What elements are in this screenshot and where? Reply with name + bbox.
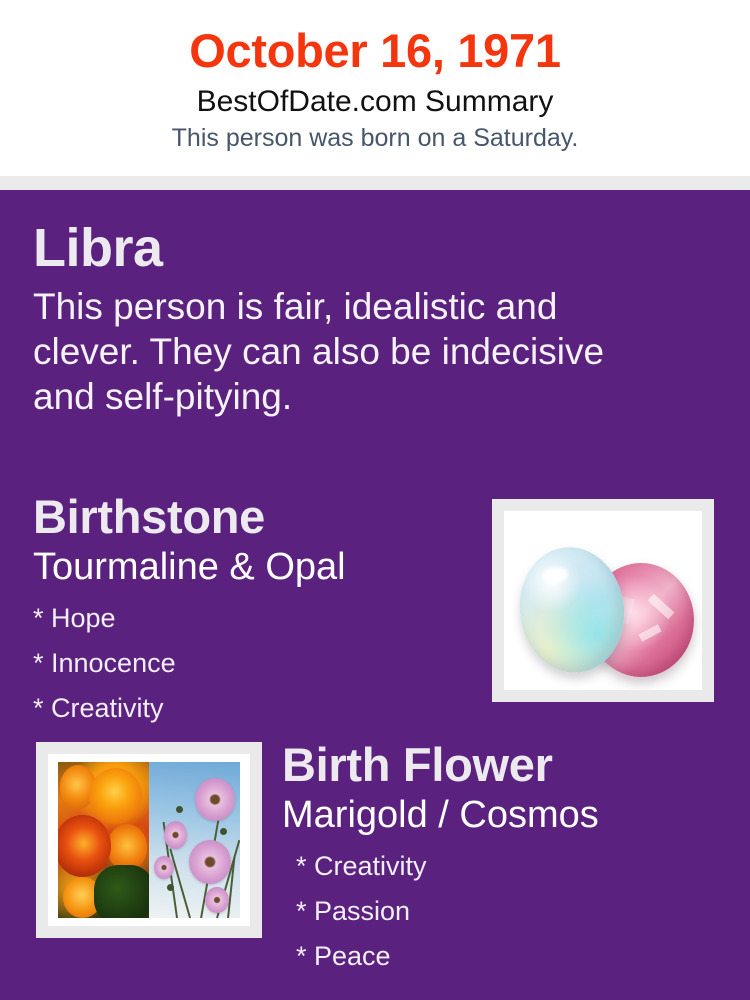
list-item: * Hope [33,596,473,641]
marigold-bloom-icon [89,768,142,824]
list-item: * Creativity [33,686,473,731]
birthstone-photo-inner [504,511,702,690]
summary-panel: Libra This person is fair, idealistic an… [0,190,750,1000]
birth-flower-photo [36,742,262,938]
marigold-bloom-icon [58,815,111,877]
birthstone-title: Birthstone [33,490,473,544]
list-item: * Creativity [282,844,732,889]
header-divider [0,176,750,190]
cosmos-flower-icon [195,778,235,822]
birthstone-value: Tourmaline & Opal [33,544,473,590]
marigold-photo-half [58,762,149,918]
birth-flower-section: Birth Flower Marigold / Cosmos * Creativ… [282,738,732,979]
flower-split-panels [58,762,240,918]
page-header: October 16, 1971 BestOfDate.com Summary … [0,0,750,176]
zodiac-section: Libra This person is fair, idealistic an… [33,218,653,419]
birthstone-section: Birthstone Tourmaline & Opal * Hope * In… [33,490,473,731]
cosmos-flower-icon [189,840,231,884]
birthstone-trait-list: * Hope * Innocence * Creativity [33,596,473,731]
cosmos-photo-half [149,762,240,918]
birth-day-statement: This person was born on a Saturday. [0,122,750,155]
list-item: * Passion [282,889,732,934]
birth-flower-title: Birth Flower [282,738,732,792]
list-item: * Peace [282,934,732,979]
cosmos-flower-icon [164,821,188,849]
zodiac-description: This person is fair, idealistic and clev… [33,284,653,419]
marigold-foliage [94,865,149,918]
cosmos-bud [220,828,227,835]
page-title-date: October 16, 1971 [0,22,750,80]
cosmos-bud [167,884,174,891]
cosmos-flower-icon [205,887,229,914]
birth-flower-photo-inner [48,754,250,926]
zodiac-sign-name: Libra [33,218,653,278]
birth-flower-value: Marigold / Cosmos [282,792,732,838]
cosmos-bud [176,806,183,813]
list-item: * Innocence [33,641,473,686]
birthstone-photo [492,499,714,702]
site-name: BestOfDate.com Summary [0,82,750,122]
gem-facet-highlight [638,624,661,641]
gem-facet-highlight [648,594,675,619]
birth-flower-trait-list: * Creativity * Passion * Peace [282,844,732,979]
